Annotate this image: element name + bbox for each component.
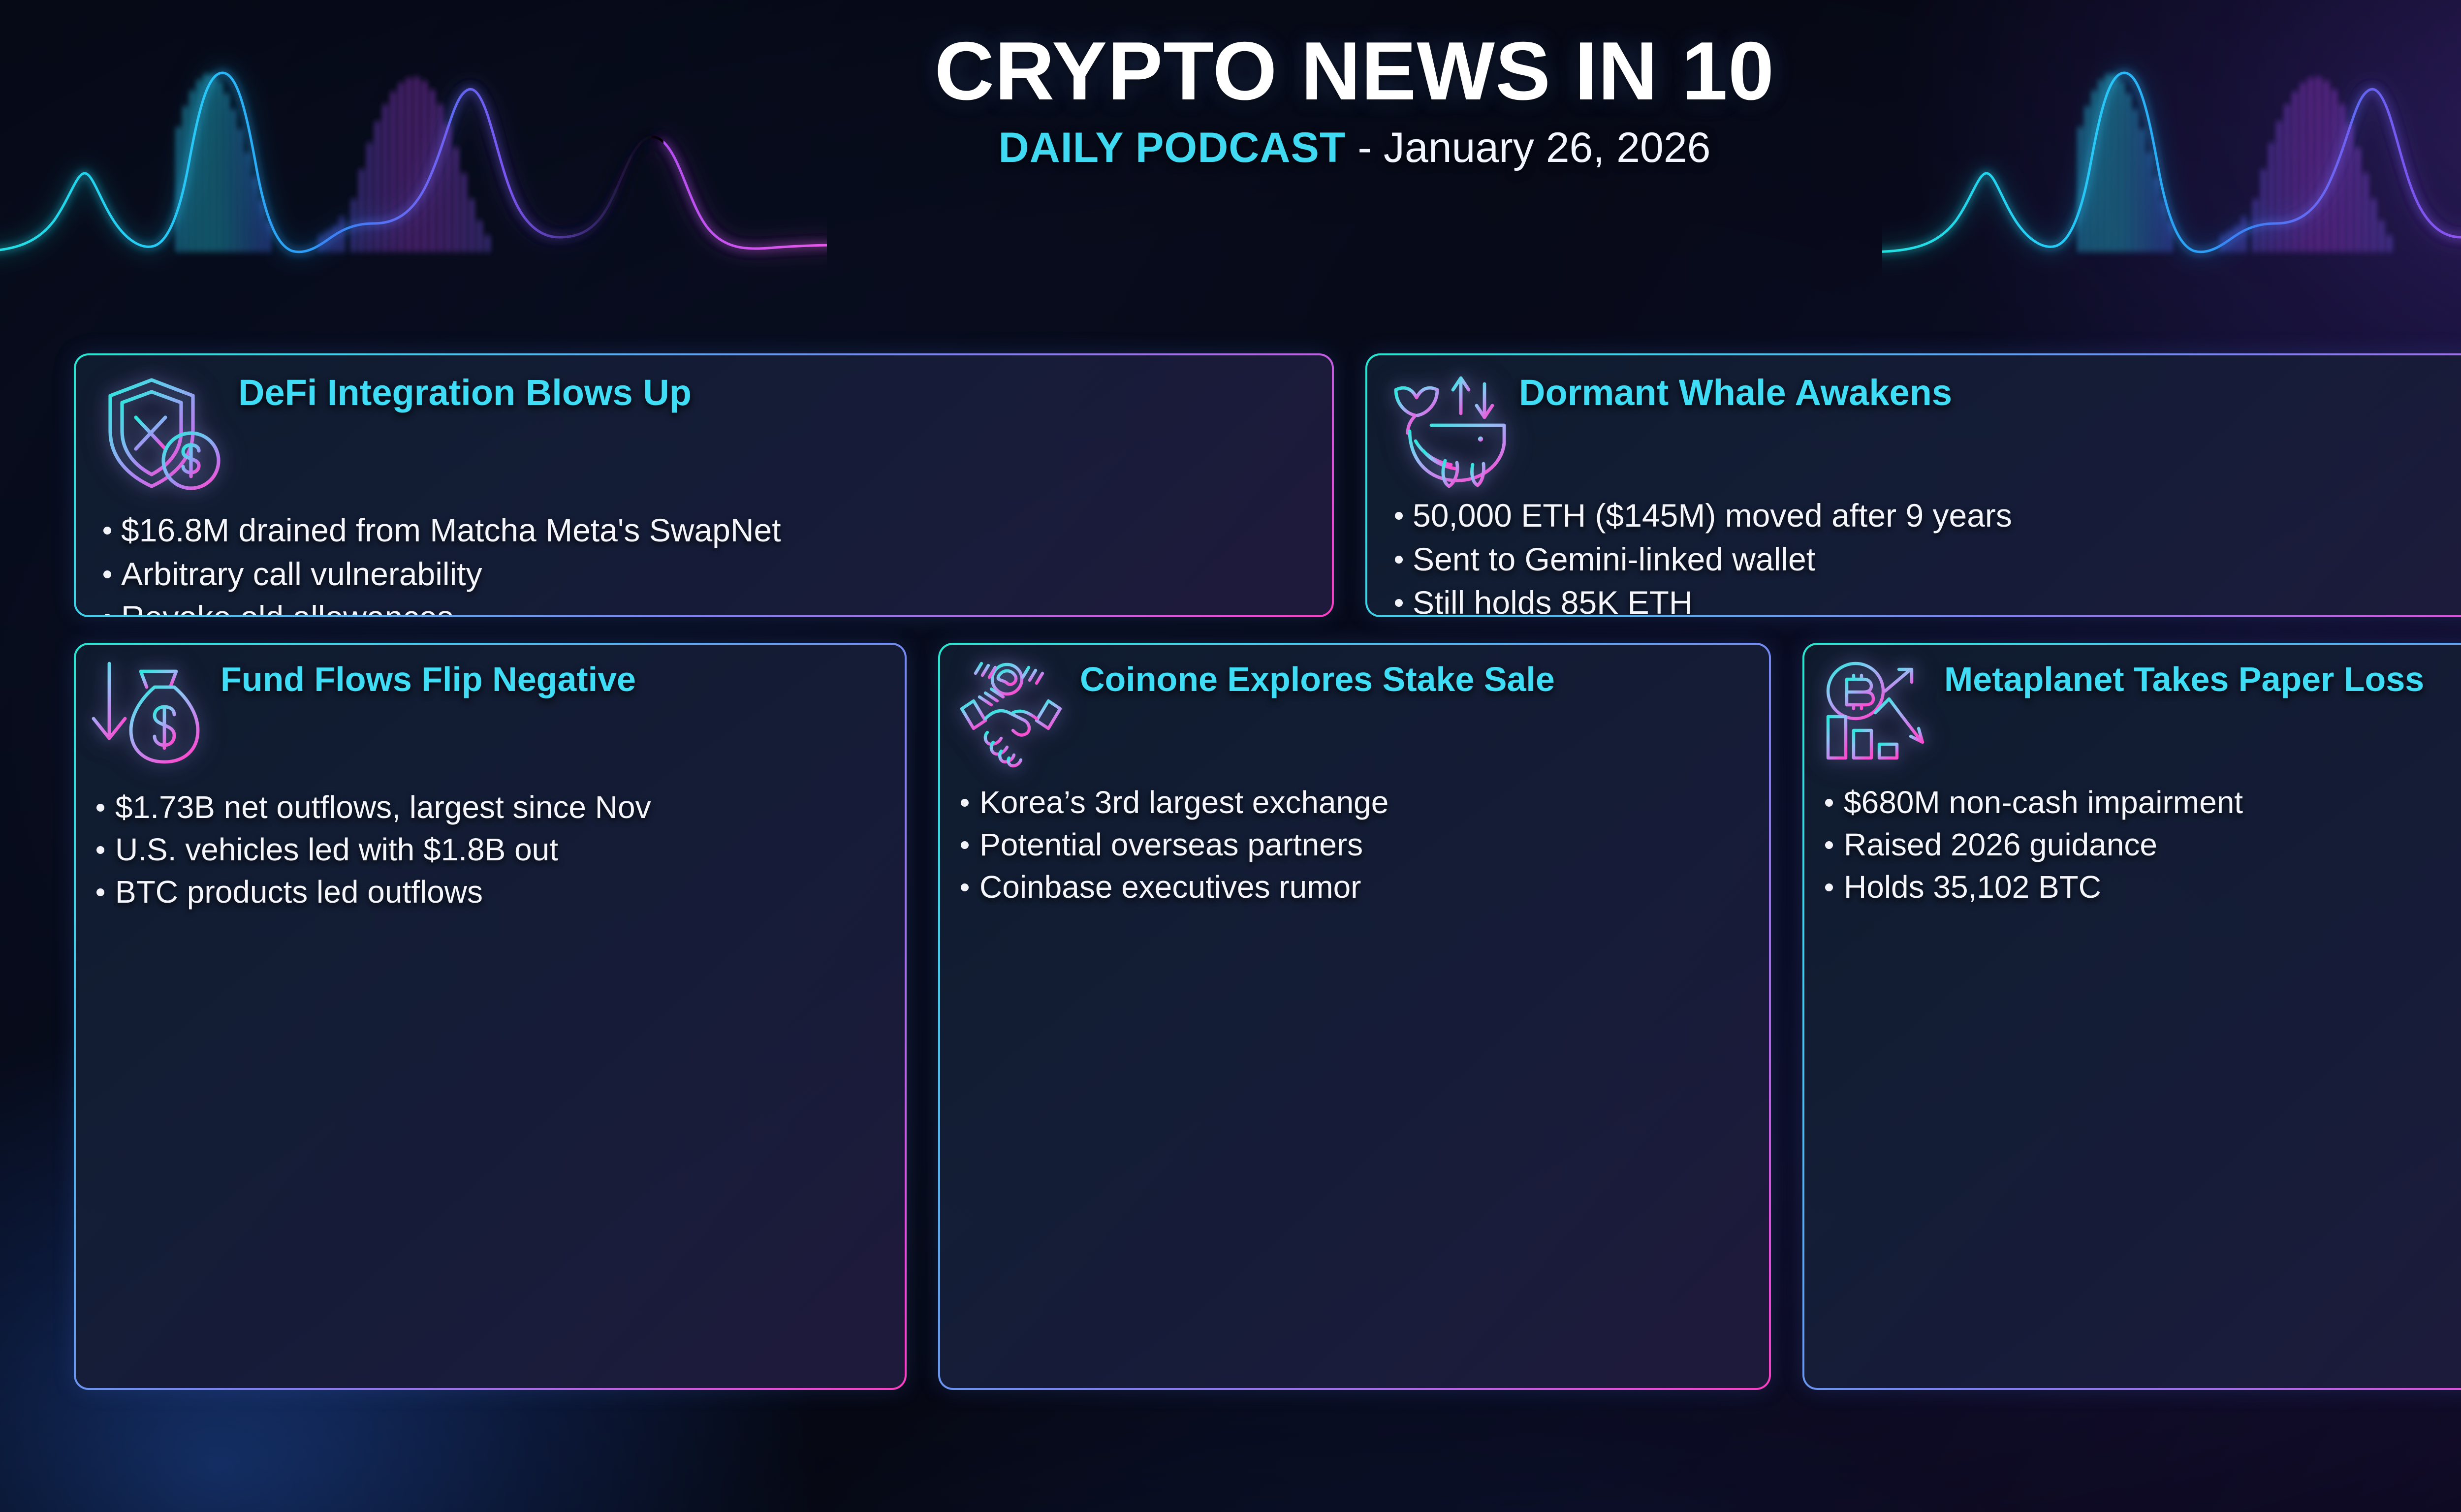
card-bullet-list: $680M non-cash impairment Raised 2026 gu… xyxy=(1816,783,2461,910)
shield-x-dollar-icon xyxy=(100,370,228,503)
header: CRYPTO NEWS IN 10 DAILY PODCAST - Januar… xyxy=(0,30,2461,226)
news-card-dormant-whale[interactable]: Dormant Whale Awakens 50,000 ETH ($145M)… xyxy=(1365,353,2461,617)
list-item: BTC products led outflows xyxy=(88,872,890,912)
news-card-coinone-stake-sale[interactable]: Coinone Explores Stake Sale Korea’s 3rd … xyxy=(938,643,1771,1390)
handshake-korea-icon xyxy=(952,658,1070,771)
card-row-top: DeFi Integration Blows Up $16.8M drained… xyxy=(74,353,2461,617)
list-item: Korea’s 3rd largest exchange xyxy=(952,783,1754,822)
subtitle: DAILY PODCAST - January 26, 2026 xyxy=(999,125,1711,171)
list-item: $16.8M drained from Matcha Meta's SwapNe… xyxy=(95,510,1311,551)
card-title: Dormant Whale Awakens xyxy=(1519,370,1952,412)
list-item: U.S. vehicles led with $1.8B out xyxy=(88,830,890,869)
card-title: Fund Flows Flip Negative xyxy=(221,658,636,697)
card-title: Coinone Explores Stake Sale xyxy=(1080,658,1555,697)
list-item: Coinbase executives rumor xyxy=(952,867,1754,907)
list-item: Sent to Gemini-linked wallet xyxy=(1386,539,2461,580)
list-item: Raised 2026 guidance xyxy=(1816,825,2461,864)
card-title: DeFi Integration Blows Up xyxy=(238,370,692,412)
subtitle-label: DAILY PODCAST xyxy=(999,124,1346,171)
card-bullet-list: Korea’s 3rd largest exchange Potential o… xyxy=(952,783,1754,910)
list-item: Holds 35,102 BTC xyxy=(1816,867,2461,907)
news-card-metaplanet-paper-loss[interactable]: Metaplanet Takes Paper Loss $680M non-ca… xyxy=(1802,643,2461,1390)
page-title: CRYPTO NEWS IN 10 xyxy=(935,30,1775,112)
card-bullet-list: 50,000 ETH ($145M) moved after 9 years S… xyxy=(1386,495,2461,615)
list-item: Revoke old allowances xyxy=(95,597,1311,615)
whale-arrows-icon xyxy=(1386,370,1509,488)
news-card-fund-flows[interactable]: Fund Flows Flip Negative $1.73B net outf… xyxy=(74,643,907,1390)
list-item: $680M non-cash impairment xyxy=(1816,783,2461,822)
card-row-bottom: Fund Flows Flip Negative $1.73B net outf… xyxy=(74,643,2461,1390)
card-bullet-list: $16.8M drained from Matcha Meta's SwapNe… xyxy=(95,510,1311,615)
list-item: $1.73B net outflows, largest since Nov xyxy=(88,787,890,827)
card-bullet-list: $1.73B net outflows, largest since Nov U… xyxy=(88,787,890,914)
list-item: Arbitrary call vulnerability xyxy=(95,554,1311,595)
bitcoin-declining-chart-icon xyxy=(1816,658,1934,771)
news-card-defi-integration[interactable]: DeFi Integration Blows Up $16.8M drained… xyxy=(74,353,1334,617)
list-item: Still holds 85K ETH xyxy=(1386,582,2461,615)
down-arrow-money-bag-icon xyxy=(88,658,211,776)
news-card-grid: DeFi Integration Blows Up $16.8M drained… xyxy=(74,353,2461,1390)
list-item: 50,000 ETH ($145M) moved after 9 years xyxy=(1386,495,2461,536)
card-title: Metaplanet Takes Paper Loss xyxy=(1944,658,2424,697)
list-item: Potential overseas partners xyxy=(952,825,1754,864)
subtitle-date: - January 26, 2026 xyxy=(1357,124,1710,171)
